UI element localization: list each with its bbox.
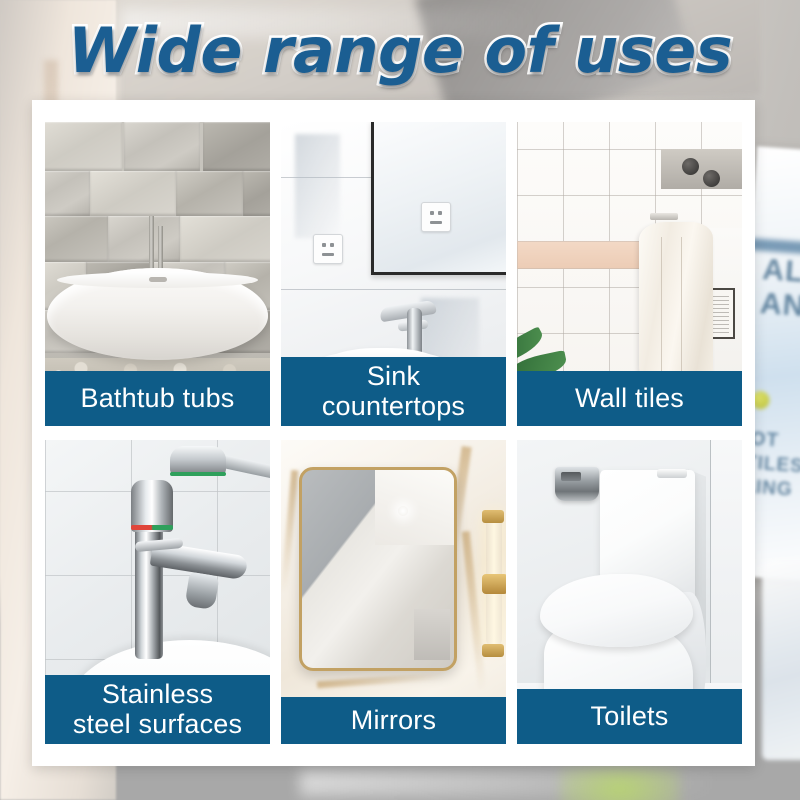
page-title: Wide range of uses — [0, 14, 800, 88]
bathtub-tap-secondary — [158, 226, 163, 274]
content-card: Bathtub tubs — [32, 100, 755, 766]
mirror-reflection-door — [414, 609, 450, 660]
towel-hook — [650, 213, 678, 220]
shelf-knob-1 — [682, 158, 699, 175]
wall-outlet — [313, 234, 343, 264]
grid-item-mirrors[interactable]: Mirrors — [281, 440, 506, 744]
sconce-cap-bottom — [482, 644, 504, 657]
background-green-accent — [560, 768, 680, 800]
caption-mirrors: Mirrors — [281, 697, 506, 744]
product-box-text-line1: ALE — [761, 253, 800, 291]
grid-item-toilets[interactable]: Toilets — [517, 440, 742, 744]
bathtub — [47, 268, 268, 360]
grid-item-stainless-steel-surfaces[interactable]: Stainless steel surfaces — [45, 440, 270, 744]
mirror-reflection-ceiling — [375, 470, 454, 545]
background-faucet — [170, 446, 266, 482]
toilet-paper-holder — [555, 467, 599, 501]
caption-bathtub-tubs: Bathtub tubs — [45, 371, 270, 426]
bathtub-tap — [149, 216, 154, 274]
metal-shelf — [661, 149, 742, 189]
sconce-cap-top — [482, 510, 504, 523]
framed-mirror — [299, 467, 457, 671]
caption-line-2: steel surfaces — [47, 709, 268, 739]
temperature-indicator-ring — [131, 525, 173, 530]
caption-sink-countertops: Sink countertops — [281, 357, 506, 426]
sconce-mid-band — [482, 574, 506, 594]
caption-line-1: Stainless — [47, 679, 268, 709]
uses-grid: Bathtub tubs — [45, 122, 742, 744]
promo-graphic: ALE ANE OT TILES LING Wide range of uses — [0, 0, 800, 800]
grid-item-bathtub-tubs[interactable]: Bathtub tubs — [45, 122, 270, 426]
shelf-knob-2 — [703, 170, 720, 187]
background-bottle — [762, 560, 800, 760]
flush-button — [657, 469, 687, 478]
bathtub-overflow — [149, 277, 167, 282]
caption-wall-tiles: Wall tiles — [517, 371, 742, 426]
caption-toilets: Toilets — [517, 689, 742, 744]
caption-line-2: countertops — [283, 391, 504, 421]
faucet-head — [131, 480, 173, 532]
mirror-reflection-light — [398, 506, 408, 516]
product-box-text-line2: ANE — [759, 287, 800, 326]
outlet-reflection — [421, 202, 451, 232]
grid-item-sink-countertops[interactable]: Sink countertops — [281, 122, 506, 426]
caption-line-1: Sink — [283, 361, 504, 391]
wall-mirror — [371, 122, 506, 275]
caption-stainless-steel-surfaces: Stainless steel surfaces — [45, 675, 270, 744]
grid-item-wall-tiles[interactable]: Wall tiles — [517, 122, 742, 426]
